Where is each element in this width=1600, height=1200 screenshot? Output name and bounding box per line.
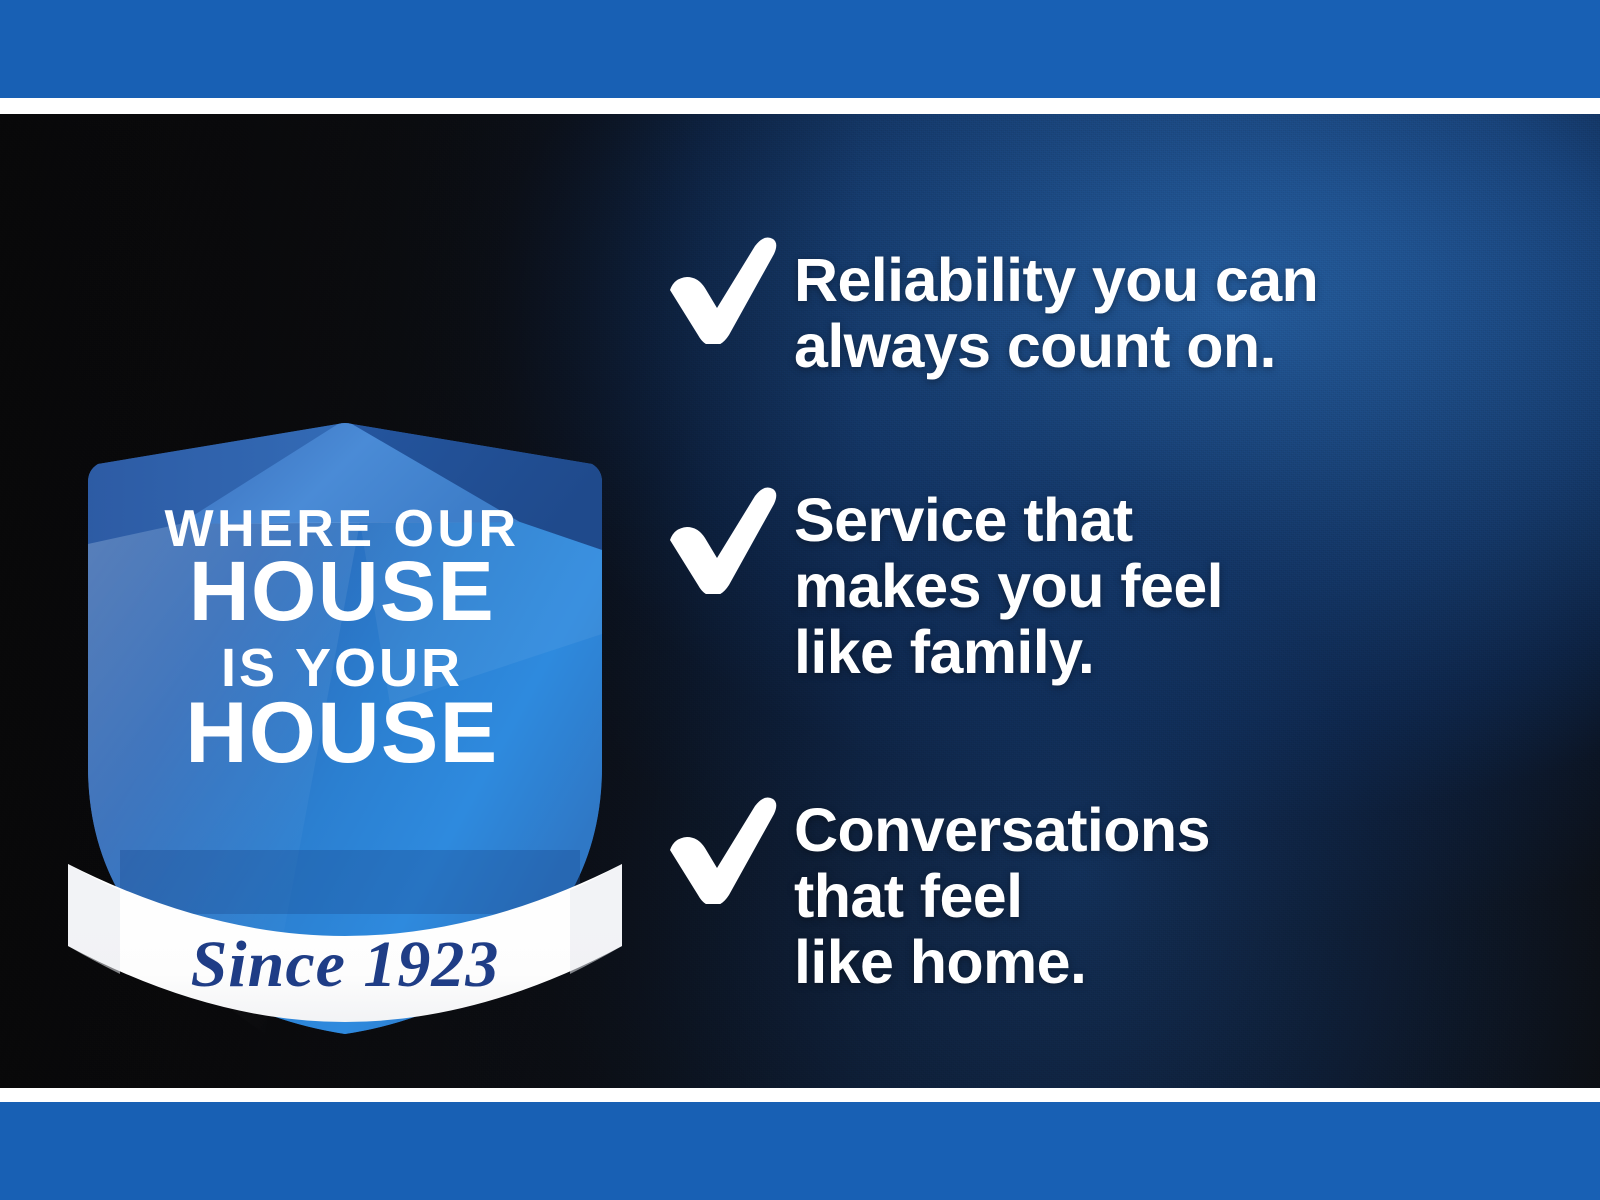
feature-text-3: Conversations that feel like home.	[794, 794, 1210, 996]
top-white-divider	[0, 98, 1600, 114]
feature-list: Reliability you can always count on. Ser…	[660, 214, 1560, 1074]
poster-stage: WHERE OUR HOUSE IS YOUR HOUSE Since 1923	[0, 114, 1600, 1088]
ribbon-since-text: Since 1923	[191, 928, 500, 1001]
feature-text-1: Reliability you can always count on.	[794, 234, 1318, 380]
feature-text-2: Service that makes you feel like family.	[794, 484, 1223, 686]
promo-poster: WHERE OUR HOUSE IS YOUR HOUSE Since 1923	[0, 0, 1600, 1200]
check-icon	[660, 234, 778, 344]
bottom-brand-bar	[0, 1102, 1600, 1200]
feature-item-2: Service that makes you feel like family.	[660, 484, 1223, 686]
check-icon	[660, 484, 778, 594]
feature-item-3: Conversations that feel like home.	[660, 794, 1210, 996]
badge-line-4: HOUSE	[185, 685, 498, 781]
bottom-white-divider	[0, 1088, 1600, 1102]
check-icon	[660, 794, 778, 904]
top-brand-bar	[0, 0, 1600, 98]
shield-badge: WHERE OUR HOUSE IS YOUR HOUSE Since 1923	[60, 274, 630, 1034]
feature-item-1: Reliability you can always count on.	[660, 234, 1318, 380]
badge-line-2: HOUSE	[189, 544, 495, 638]
